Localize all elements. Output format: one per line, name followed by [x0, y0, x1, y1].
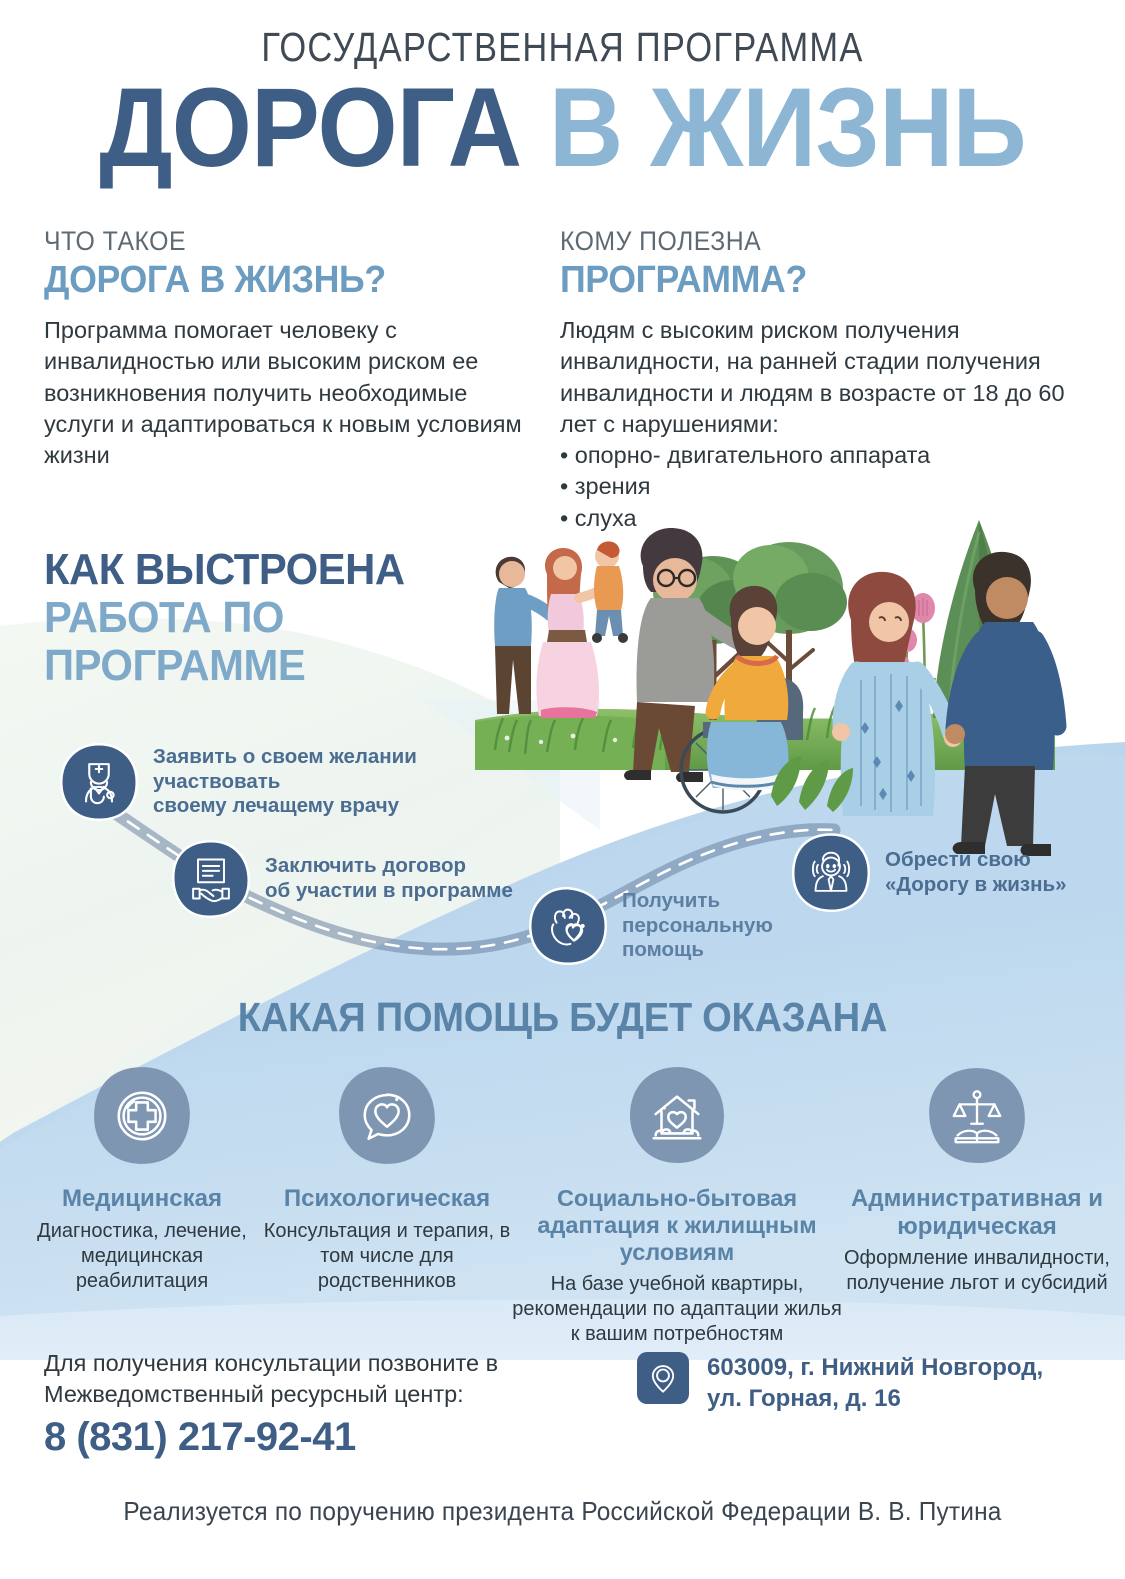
step-4-badge: [790, 832, 872, 914]
step-3-line1: Получить: [622, 889, 720, 912]
step-2-text: Заключить договор об участии в программе: [265, 854, 513, 903]
step-3-text: Получить персональную помощь: [622, 889, 773, 963]
step-1-line2: своему лечащему врачу: [153, 794, 399, 817]
how-title-line3: ПРОГРАММЕ: [44, 644, 405, 688]
what-subhead: ДОРОГА В ЖИЗНЬ?: [44, 259, 495, 302]
contact-line-2: Межведомственный ресурсный центр:: [44, 1381, 464, 1407]
footer-contact-block: Для получения консультации позвоните в М…: [44, 1348, 498, 1460]
help-2-badge: [335, 1064, 439, 1168]
help-item-psychological: Психологическая Консультация и терапия, …: [262, 1064, 512, 1347]
address-line-2: ул. Горная, д. 16: [707, 1385, 901, 1412]
house-heart-icon: [646, 1085, 708, 1147]
help-1-heading: Медицинская: [22, 1185, 262, 1213]
map-pin-icon: [646, 1361, 680, 1395]
help-3-text: На базе учебной квартиры, рекомендации п…: [512, 1272, 842, 1347]
header-kicker: ГОСУДАРСТВЕННАЯ ПРОГРАММА: [90, 24, 1035, 71]
contract-handshake-icon: [185, 853, 237, 905]
help-item-social: Социально-бытовая адаптация к жилищным у…: [512, 1064, 842, 1347]
help-item-legal: Административная и юридическая Оформлени…: [842, 1064, 1112, 1347]
poster-root: ГОСУДАРСТВЕННАЯ ПРОГРАММА ДОРОГА В ЖИЗНЬ…: [0, 0, 1125, 1579]
step-4-line2: «Дорогу в жизнь»: [885, 873, 1066, 896]
help-2-heading: Психологическая: [262, 1185, 512, 1213]
step-1-badge: [58, 741, 140, 823]
help-3-heading: Социально-бытовая адаптация к жилищным у…: [512, 1185, 842, 1266]
page-title: ДОРОГА В ЖИЗНЬ: [45, 73, 1080, 183]
help-1-badge: [90, 1064, 194, 1168]
how-section-title: КАК ВЫСТРОЕНА РАБОТА ПО ПРОГРАММЕ: [44, 548, 424, 688]
intro-column-who: КОМУ ПОЛЕЗНА ПРОГРАММА? Людям с высоким …: [560, 226, 1105, 534]
intro-column-what: ЧТО ТАКОЕ ДОРОГА В ЖИЗНЬ? Программа помо…: [44, 226, 524, 471]
step-1-text: Заявить о своем желании участвовать свое…: [153, 745, 528, 819]
step-3-badge: [527, 885, 609, 967]
process-step-3: Получить персональную помощь: [527, 885, 817, 967]
contact-instruction: Для получения консультации позвоните в М…: [44, 1348, 498, 1409]
process-step-1: Заявить о своем желании участвовать свое…: [58, 741, 528, 823]
address-line-1: 603009, г. Нижний Новгород,: [707, 1354, 1043, 1381]
who-bullet-1: • зрения: [560, 471, 1105, 502]
medical-cross-icon: [111, 1085, 173, 1147]
process-step-4: Обрести свою «Дорогу в жизнь»: [790, 832, 1100, 914]
step-2-line2: об участии в программе: [265, 879, 513, 902]
step-4-line1: Обрести свою: [885, 848, 1031, 871]
title-word-vzhizn: В ЖИЗНЬ: [549, 65, 1026, 190]
how-title-line1: КАК ВЫСТРОЕНА: [44, 548, 405, 592]
title-word-doroga: ДОРОГА: [99, 65, 521, 190]
step-3-line3: помощь: [622, 938, 704, 961]
what-body: Программа помогает человеку с инвалиднос…: [44, 315, 524, 471]
map-pin-badge: [637, 1352, 689, 1404]
help-grid: Медицинская Диагностика, лечение, медици…: [0, 1064, 1125, 1347]
help-3-badge: [625, 1064, 729, 1168]
hand-heart-icon: [542, 900, 594, 952]
address-text: 603009, г. Нижний Новгород, ул. Горная, …: [707, 1352, 1043, 1414]
happy-person-icon: [805, 847, 857, 899]
step-2-badge: [170, 838, 252, 920]
contact-line-1: Для получения консультации позвоните в: [44, 1350, 498, 1376]
step-2-line1: Заключить договор: [265, 854, 466, 877]
who-body: Людям с высоким риском получения инвалид…: [560, 315, 1105, 440]
help-4-text: Оформление инвалидности, получение льгот…: [842, 1246, 1112, 1296]
doctor-icon: [73, 756, 125, 808]
poster-header: ГОСУДАРСТВЕННАЯ ПРОГРАММА ДОРОГА В ЖИЗНЬ: [0, 24, 1125, 183]
step-3-line2: персональную: [622, 914, 773, 937]
how-title-line2: РАБОТА ПО: [44, 596, 405, 640]
help-2-text: Консультация и терапия, в том числе для …: [262, 1219, 512, 1294]
who-bullets: • опорно- двигательного аппарата • зрени…: [560, 440, 1105, 534]
help-4-badge: [925, 1064, 1029, 1168]
scales-book-icon: [946, 1085, 1008, 1147]
footer-address-block: 603009, г. Нижний Новгород, ул. Горная, …: [637, 1352, 1043, 1414]
phone-number[interactable]: 8 (831) 217-92-41: [44, 1415, 498, 1460]
who-bullet-2: • слуха: [560, 503, 1105, 534]
presidential-tagline: Реализуется по поручению президента Росс…: [34, 1496, 1092, 1527]
help-item-medical: Медицинская Диагностика, лечение, медици…: [22, 1064, 262, 1347]
help-section-title: КАКАЯ ПОМОЩЬ БУДЕТ ОКАЗАНА: [39, 994, 1085, 1041]
who-subhead: ПРОГРАММА?: [560, 259, 1072, 302]
heart-speech-bubble-icon: [356, 1085, 418, 1147]
step-4-text: Обрести свою «Дорогу в жизнь»: [885, 848, 1066, 897]
who-eyebrow: КОМУ ПОЛЕЗНА: [560, 226, 1061, 257]
help-1-text: Диагностика, лечение, медицинская реабил…: [22, 1219, 262, 1294]
who-bullet-0: • опорно- двигательного аппарата: [560, 440, 1105, 471]
step-1-line1: Заявить о своем желании участвовать: [153, 745, 417, 793]
help-4-heading: Административная и юридическая: [842, 1185, 1112, 1240]
what-eyebrow: ЧТО ТАКОЕ: [44, 226, 486, 257]
